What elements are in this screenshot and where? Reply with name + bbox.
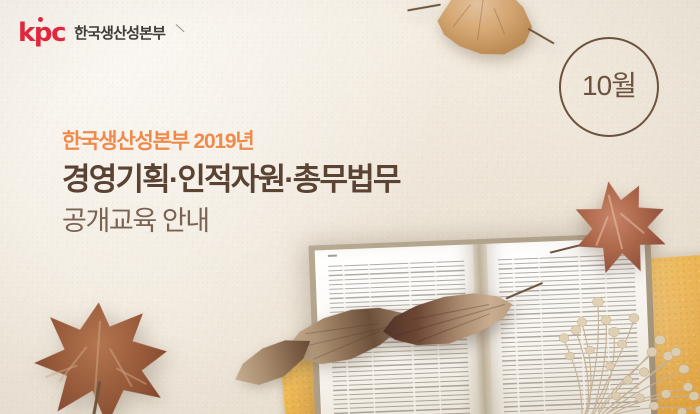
page-number-left xyxy=(328,255,337,257)
promo-banner: kpc 한국생산성본부 10월 한국생산성본부 2019년 경영기획·인적자원·… xyxy=(0,0,700,414)
month-badge: 10월 xyxy=(559,37,659,137)
kpc-logo-dot-icon xyxy=(38,17,43,22)
leaf-body xyxy=(26,295,175,414)
kpc-logo-mark-text: kpc xyxy=(18,18,65,48)
headline-block: 한국생산성본부 2019년 경영기획·인적자원·총무법무 공개교육 안내 xyxy=(62,130,400,237)
sub-headline: 공개교육 안내 xyxy=(62,205,400,237)
main-headline: 경영기획·인적자원·총무법무 xyxy=(62,162,400,199)
eyebrow-text: 한국생산성본부 2019년 xyxy=(62,130,400,154)
month-badge-label: 10월 xyxy=(582,72,636,100)
dried-flowers-svg xyxy=(556,246,700,414)
kpc-organization-name: 한국생산성본부 xyxy=(74,26,165,41)
logo-tick-icon xyxy=(176,24,187,35)
dried-flowers xyxy=(556,246,700,414)
maple-leaf-bottom-left xyxy=(26,295,175,414)
kpc-logo-mark: kpc xyxy=(18,20,65,46)
kpc-logo[interactable]: kpc 한국생산성본부 xyxy=(18,20,165,46)
